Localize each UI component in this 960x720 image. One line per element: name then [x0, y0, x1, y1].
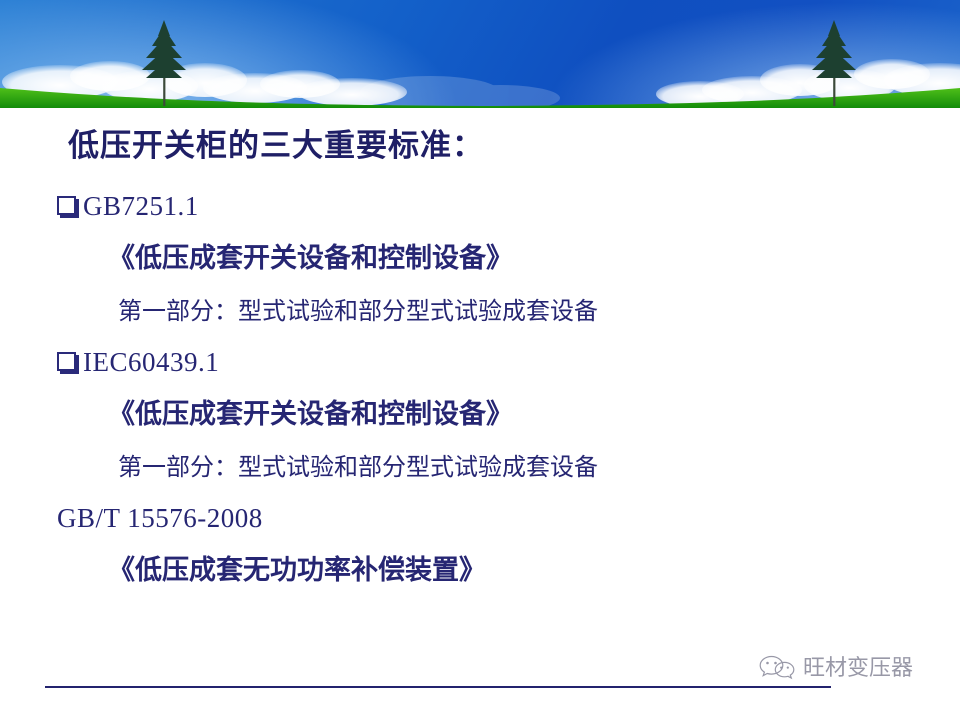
standard-code: GB/T 15576-2008	[57, 505, 263, 532]
wechat-icon	[757, 652, 797, 680]
list-item: GB7251.1	[0, 182, 960, 231]
standard-code: IEC60439.1	[83, 349, 219, 376]
standard-part: 第一部分：型式试验和部分型式试验成套设备	[118, 456, 598, 480]
list-item: 《低压成套开关设备和控制设备》	[0, 387, 960, 442]
square-bullet-icon	[57, 352, 76, 371]
standard-title: 《低压成套开关设备和控制设备》	[108, 401, 513, 428]
standards-list: GB7251.1 《低压成套开关设备和控制设备》 第一部分：型式试验和部分型式试…	[0, 182, 960, 598]
square-bullet-icon	[57, 196, 76, 215]
list-item: 《低压成套开关设备和控制设备》	[0, 231, 960, 286]
list-item: GB/T 15576-2008	[0, 494, 960, 543]
footer-divider	[45, 686, 831, 688]
page-title: 低压开关柜的三大重要标准：	[68, 120, 484, 165]
standard-part: 第一部分：型式试验和部分型式试验成套设备	[118, 300, 598, 324]
list-item: 第一部分：型式试验和部分型式试验成套设备	[0, 286, 960, 338]
header-banner	[0, 0, 960, 108]
list-item: 第一部分：型式试验和部分型式试验成套设备	[0, 442, 960, 494]
watermark-text: 旺材变压器	[803, 650, 913, 682]
banner-scenery	[0, 0, 960, 108]
cloud-cluster-center	[360, 76, 560, 108]
standard-title: 《低压成套开关设备和控制设备》	[108, 245, 513, 272]
standard-title: 《低压成套无功功率补偿装置》	[108, 557, 486, 584]
watermark: 旺材变压器	[757, 650, 913, 682]
standard-code: GB7251.1	[83, 193, 199, 220]
list-item: IEC60439.1	[0, 338, 960, 387]
list-item: 《低压成套无功功率补偿装置》	[0, 543, 960, 598]
